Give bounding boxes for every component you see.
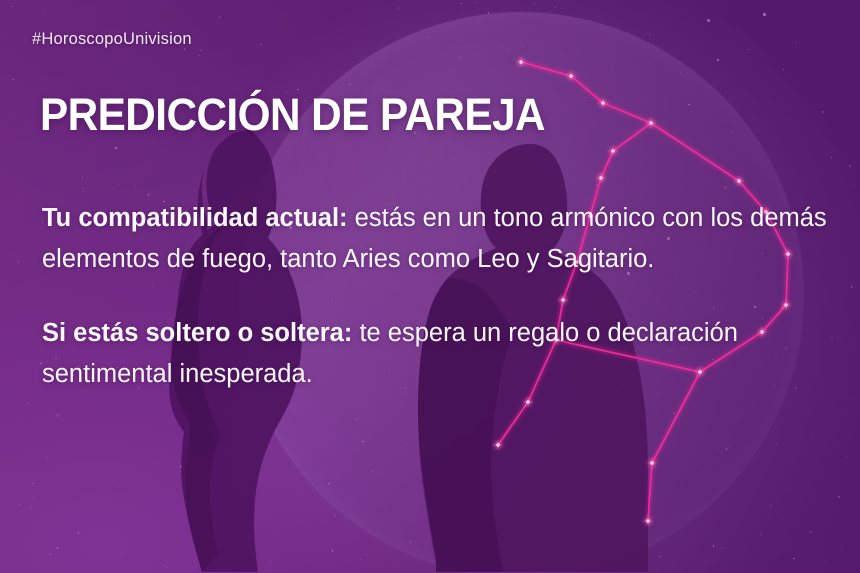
horoscope-card: #HoroscopoUnivision PREDICCIÓN DE PAREJA… [0, 0, 860, 573]
paragraph-compatibility-lead: Tu compatibilidad actual: [42, 204, 348, 232]
body-text: Tu compatibilidad actual: estás en un to… [42, 198, 832, 395]
hashtag-label: #HoroscopoUnivision [32, 30, 192, 49]
page-title: PREDICCIÓN DE PAREJA [40, 92, 545, 138]
paragraph-compatibility: Tu compatibilidad actual: estás en un to… [42, 198, 832, 280]
paragraph-spacer [42, 280, 832, 313]
paragraph-single-lead: Si estás soltero o soltera: [42, 319, 352, 347]
paragraph-single: Si estás soltero o soltera: te espera un… [42, 313, 832, 395]
